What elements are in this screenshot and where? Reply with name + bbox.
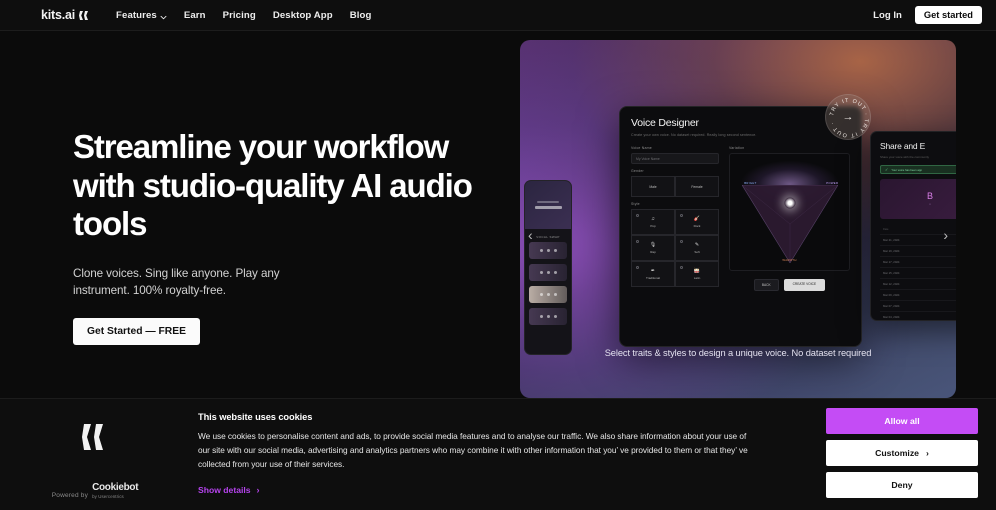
radio-icon (636, 214, 639, 217)
style-glyph-icon: ✎ (695, 243, 699, 248)
left-card-row (529, 308, 567, 325)
style-label: Style (631, 202, 719, 206)
style-option-label: Soft (694, 250, 699, 254)
right-card-hero-sub: v (929, 203, 930, 206)
cookie-consent-banner: Powered by Cookiebot by Usercentrics Thi… (0, 398, 996, 510)
hero-subtitle: Clone voices. Sing like anyone. Play any… (73, 265, 313, 300)
right-card-title: Share and E (880, 141, 956, 151)
back-button[interactable]: BACK (754, 279, 779, 291)
hero-carousel: VOCAL SWAP Voice Designer Create your ow… (520, 40, 956, 398)
site-logo[interactable]: kits.ai (41, 8, 90, 22)
right-card-alert: ✓ Your voice has been app (880, 165, 956, 174)
right-card-description: Share your voice with the community (880, 155, 956, 159)
deny-label: Deny (891, 480, 912, 490)
nav-item-earn[interactable]: Earn (184, 10, 206, 21)
nav-links: Features Earn Pricing Desktop App Blog (116, 10, 371, 21)
voice-designer-actions: BACK CREATE VOICE (729, 279, 850, 291)
list-item-label: Mar 15, 2024 (883, 271, 899, 275)
radio-icon (680, 240, 683, 243)
check-icon: ✓ (885, 167, 888, 172)
carousel-left-preview-card: VOCAL SWAP (524, 180, 572, 355)
list-item-label: Mar 04, 2024 (883, 315, 899, 319)
list-item-label: Mar 09, 2024 (883, 293, 899, 297)
customize-label: Customize (875, 448, 919, 458)
gender-option-male-label: Male (649, 185, 656, 189)
gender-label: Gender (631, 169, 719, 173)
chevron-right-icon: › (257, 485, 260, 495)
style-option[interactable]: ♫Pop (631, 209, 675, 235)
gender-option-female-label: Female (691, 185, 702, 189)
create-voice-button[interactable]: CREATE VOICE (784, 279, 826, 291)
list-item[interactable]: Mar 15, 2024 (880, 268, 956, 279)
list-item[interactable]: Mar 09, 2024 (880, 290, 956, 301)
style-option-label: Latin (694, 276, 701, 280)
list-item-label: Mar 12, 2024 (883, 282, 899, 286)
cookiebot-attribution[interactable]: Powered by Cookiebot by Usercentrics (52, 483, 139, 499)
left-card-row (529, 242, 567, 259)
variation-tag-bright: BRIGHT (744, 181, 756, 185)
kits-mark-icon (82, 423, 108, 456)
voice-name-value: My Voice Name (636, 157, 660, 161)
list-item-label: Mar 17, 2024 (883, 260, 899, 264)
cookiebot-logo: Cookiebot by Usercentrics (92, 483, 138, 499)
carousel-next-button[interactable]: › (943, 228, 948, 242)
carousel-slide: VOCAL SWAP Voice Designer Create your ow… (520, 40, 956, 398)
nav-item-blog[interactable]: Blog (350, 10, 372, 21)
list-item-label: Mar 07, 2024 (883, 304, 899, 308)
voice-designer-panel: Voice Designer Create your own voice. No… (619, 106, 862, 347)
radio-icon (680, 266, 683, 269)
cookie-logo-column: Powered by Cookiebot by Usercentrics (0, 399, 190, 510)
voice-designer-variation-column: Variation BRIGHT POWER WARMTH (729, 146, 850, 291)
style-option[interactable]: ✎Soft (675, 235, 719, 261)
chevron-right-icon: › (926, 448, 929, 458)
cookie-body-text: We use cookies to personalise content an… (198, 429, 750, 472)
right-card-alert-text: Your voice has been app (891, 168, 922, 172)
voice-designer-body: Voice Name My Voice Name Gender Male Fem… (631, 146, 850, 291)
radio-icon (636, 266, 639, 269)
style-option[interactable]: 🥁Latin (675, 261, 719, 287)
carousel-prev-button[interactable]: ‹ (528, 228, 533, 242)
hero-cta-button[interactable]: Get Started — FREE (73, 318, 200, 345)
logo-wordmark: kits.ai (41, 8, 75, 22)
arrow-right-icon: → (843, 112, 854, 123)
nav-left-group: kits.ai Features Earn Pricing Des (0, 8, 371, 22)
hero-text-block: Streamline your workflow with studio-qua… (73, 128, 493, 345)
left-card-header (525, 181, 571, 229)
right-card-hero-glyph: B (927, 192, 933, 201)
visualizer-orb-handle[interactable] (784, 197, 795, 208)
carousel-right-preview-card: Share and E Share your voice with the co… (870, 131, 956, 321)
cookiebot-subtitle: by Usercentrics (92, 494, 124, 499)
style-option[interactable]: 🎙Rap (631, 235, 675, 261)
nav-item-pricing[interactable]: Pricing (223, 10, 256, 21)
nav-item-features-label: Features (116, 10, 157, 21)
nav-right-group: Log In Get started (873, 6, 996, 24)
powered-by-label: Powered by (52, 492, 88, 499)
list-item[interactable]: Mar 12, 2024 (880, 279, 956, 290)
radio-icon (636, 240, 639, 243)
try-it-out-badge[interactable]: TRY IT OUT · TRY IT OUT · → (825, 94, 871, 140)
nav-item-features[interactable]: Features (116, 10, 167, 21)
login-link[interactable]: Log In (873, 10, 902, 21)
gender-option-female[interactable]: Female (675, 176, 719, 197)
variation-tag-warmth: WARMTH (782, 258, 796, 262)
variation-visualizer[interactable]: BRIGHT POWER WARMTH (729, 153, 850, 271)
cookie-heading: This website uses cookies (198, 412, 750, 422)
cookiebot-name: Cookiebot (92, 483, 138, 493)
gender-options: Male Female (631, 176, 719, 197)
variation-tag-power: POWER (826, 181, 838, 185)
style-glyph-icon: ✒ (651, 269, 655, 274)
deny-button[interactable]: Deny (826, 472, 978, 498)
customize-button[interactable]: Customize › (826, 440, 978, 466)
style-glyph-icon: ♫ (651, 217, 655, 222)
voice-designer-form-column: Voice Name My Voice Name Gender Male Fem… (631, 146, 719, 291)
cookie-buttons-column: Allow all Customize › Deny (826, 399, 996, 498)
voice-name-input[interactable]: My Voice Name (631, 153, 719, 164)
show-details-label: Show details (198, 485, 251, 495)
style-option-label: Rock (694, 224, 701, 228)
voice-designer-title: Voice Designer (631, 117, 850, 129)
list-header-label: Date (883, 228, 888, 231)
list-item[interactable]: Mar 04, 2024 (880, 312, 956, 321)
get-started-button[interactable]: Get started (915, 6, 982, 24)
left-card-line-2 (535, 206, 562, 209)
landing-page: kits.ai Features Earn Pricing Des (0, 0, 996, 510)
style-option[interactable]: 🎸Rock (675, 209, 719, 235)
list-item[interactable]: Mar 19, 2024 (880, 246, 956, 257)
allow-all-label: Allow all (884, 416, 919, 426)
nav-item-desktop-app[interactable]: Desktop App (273, 10, 333, 21)
cookie-text-column: This website uses cookies We use cookies… (190, 399, 750, 498)
style-option-label: Rap (650, 250, 656, 254)
show-details-link[interactable]: Show details › (198, 485, 260, 495)
top-navigation-bar: kits.ai Features Earn Pricing Des (0, 0, 996, 31)
gender-option-male[interactable]: Male (631, 176, 675, 197)
list-item-label: Mar 21, 2024 (883, 238, 899, 242)
style-option[interactable]: ✒Traditional (631, 261, 675, 287)
left-card-row (529, 264, 567, 281)
list-item-label: Mar 19, 2024 (883, 249, 899, 253)
right-card-hero: B v (880, 179, 956, 219)
style-glyph-icon: 🎙 (650, 243, 656, 248)
voice-name-label: Voice Name (631, 146, 719, 150)
list-item[interactable]: Mar 07, 2024 (880, 301, 956, 312)
list-item[interactable]: Mar 17, 2024 (880, 257, 956, 268)
style-glyph-icon: 🥁 (694, 269, 700, 274)
left-card-row (529, 286, 567, 303)
left-card-line-1 (537, 201, 559, 203)
radio-icon (680, 214, 683, 217)
style-option-label: Traditional (646, 276, 660, 280)
variation-label: Variation (729, 146, 850, 150)
kits-mark-icon (79, 10, 90, 21)
allow-all-button[interactable]: Allow all (826, 408, 978, 434)
style-options-grid: ♫Pop 🎸Rock 🎙Rap ✎Soft ✒Traditional 🥁Lati… (631, 209, 719, 287)
voice-designer-description: Create your own voice. No dataset requir… (631, 133, 850, 137)
style-glyph-icon: 🎸 (694, 217, 700, 222)
page-title: Streamline your workflow with studio-qua… (73, 128, 493, 244)
chevron-down-icon (160, 13, 167, 20)
carousel-caption: Select traits & styles to design a uniqu… (520, 346, 956, 361)
style-option-label: Pop (650, 224, 655, 228)
